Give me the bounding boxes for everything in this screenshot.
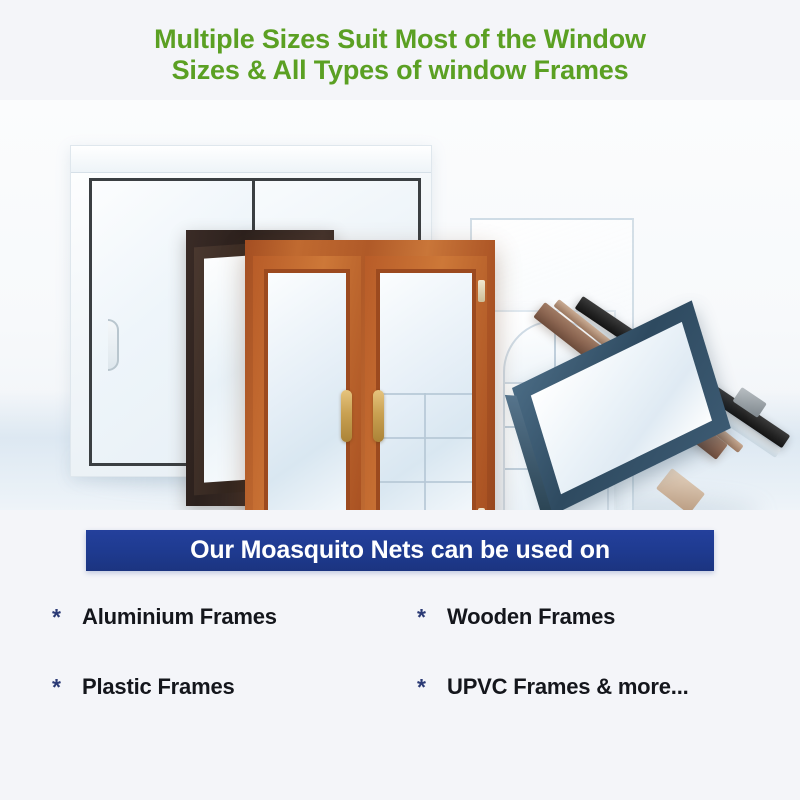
usage-banner: Our Moasquito Nets can be used on bbox=[86, 530, 714, 571]
wood-handle-right-icon bbox=[373, 390, 384, 442]
product-photo bbox=[0, 100, 800, 510]
wood-muntin-h2 bbox=[380, 437, 472, 439]
wood-leaf-left-glass bbox=[264, 269, 350, 510]
list-item-label: Plastic Frames bbox=[82, 674, 235, 700]
slider-top-rail bbox=[71, 146, 431, 173]
list-item: * Aluminium Frames bbox=[40, 604, 399, 630]
asterisk-icon: * bbox=[40, 606, 82, 629]
list-item: * Plastic Frames bbox=[40, 674, 399, 700]
wood-handle-left-icon bbox=[341, 390, 352, 442]
page-headline: Multiple Sizes Suit Most of the Window S… bbox=[0, 24, 800, 86]
wood-hinge-bottom-icon bbox=[478, 508, 485, 510]
wood-leaf-right-glass bbox=[376, 269, 476, 510]
slider-handle-icon bbox=[108, 319, 119, 371]
frame-types-list: * Aluminium Frames * Wooden Frames * Pla… bbox=[40, 604, 764, 700]
asterisk-icon: * bbox=[405, 606, 447, 629]
wood-muntin-v bbox=[424, 393, 426, 510]
usage-banner-text: Our Moasquito Nets can be used on bbox=[190, 536, 610, 565]
wood-hinge-top-icon bbox=[478, 280, 485, 302]
wood-muntin-h1 bbox=[380, 393, 472, 395]
wooden-double-casement-window bbox=[245, 240, 495, 510]
asterisk-icon: * bbox=[40, 676, 82, 699]
list-item-label: Wooden Frames bbox=[447, 604, 615, 630]
wood-muntin-h3 bbox=[380, 481, 472, 483]
wood-leaf-left bbox=[253, 256, 361, 510]
headline-line-2: Sizes & All Types of window Frames bbox=[0, 55, 800, 86]
wood-leaf-right bbox=[365, 256, 487, 510]
asterisk-icon: * bbox=[405, 676, 447, 699]
list-item-label: Aluminium Frames bbox=[82, 604, 277, 630]
list-item-label: UPVC Frames & more... bbox=[447, 674, 689, 700]
list-item: * Wooden Frames bbox=[405, 604, 764, 630]
list-item: * UPVC Frames & more... bbox=[405, 674, 764, 700]
headline-line-1: Multiple Sizes Suit Most of the Window bbox=[0, 24, 800, 55]
